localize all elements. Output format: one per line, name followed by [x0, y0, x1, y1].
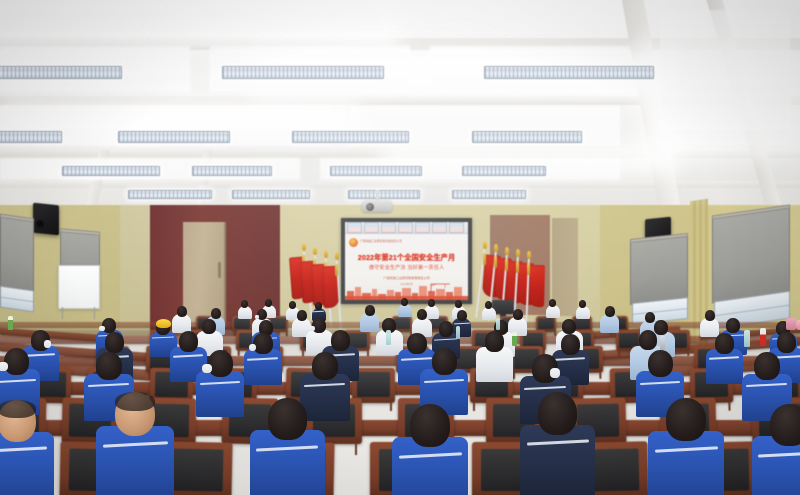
- projection-screen[interactable]: 广西机械工业研究院有限责任公司 2022年第21个全国安全生产月 遵守安全生产法…: [345, 222, 468, 300]
- person-head: [705, 310, 715, 321]
- person-torso: [600, 314, 619, 332]
- audience-member-front-near: [96, 392, 174, 494]
- audience-member-back-5: [398, 298, 412, 316]
- person-head: [253, 333, 273, 354]
- flag-finial-icon: [494, 244, 498, 252]
- window-blind-left-1[interactable]: [0, 216, 34, 293]
- projector-lens-icon: [366, 203, 374, 211]
- flag-tassel: [505, 259, 508, 271]
- flag-finial-icon: [505, 247, 509, 255]
- chair-leg: [285, 332, 287, 337]
- audience-member-r4-10: [706, 333, 743, 381]
- whiteboard-leg: [62, 307, 63, 319]
- person-torso: [238, 306, 252, 319]
- ceiling-fluorescent-fixture: [62, 166, 160, 176]
- person-head: [211, 308, 221, 319]
- ceiling-beam: [0, 181, 800, 188]
- person-torso: [398, 304, 412, 317]
- slide-title: 2022年第21个全国安全生产月: [345, 253, 468, 264]
- person-head: [549, 299, 556, 307]
- ceiling-fluorescent-fixture: [0, 131, 62, 143]
- ceiling-fluorescent-fixture: [348, 190, 420, 199]
- ceiling-light-panel: [660, 10, 790, 130]
- audience-member-r6-4: [392, 404, 468, 495]
- person-head: [770, 404, 800, 446]
- audience-member-r6-7: [752, 404, 800, 495]
- window-blind-right-1[interactable]: [630, 235, 688, 305]
- flag-tassel: [527, 263, 530, 275]
- person-torso: [244, 349, 282, 385]
- ceiling-fluorescent-fixture: [472, 131, 582, 143]
- water-bottle-4: [496, 318, 500, 330]
- face-mask: [550, 368, 560, 378]
- audience-member-r6-1: [0, 400, 54, 495]
- audience-member-r4-7: [476, 331, 513, 379]
- flag-tassel: [335, 264, 338, 276]
- face-mask: [255, 315, 259, 319]
- ceiling-fluorescent-fixture: [192, 166, 272, 176]
- audience-member-r6-6: [648, 398, 724, 495]
- company-logo-icon: [349, 238, 358, 247]
- person-head: [562, 319, 576, 334]
- person-head: [365, 305, 375, 316]
- chair-leg: [599, 372, 601, 380]
- chair-leg: [618, 350, 620, 356]
- ceiling-fluorescent-fixture: [232, 190, 310, 199]
- person-head: [331, 330, 350, 351]
- person-head: [648, 350, 673, 377]
- hard-hat: [156, 319, 171, 328]
- person-head: [102, 318, 116, 333]
- flag-finial-icon: [516, 249, 520, 257]
- person-head: [666, 398, 706, 441]
- audience-member-r6-3: [250, 398, 325, 495]
- person-head: [289, 301, 296, 309]
- water-bottle-1: [8, 316, 13, 330]
- person-hair: [115, 392, 156, 411]
- slide-thumbnail[interactable]: [364, 222, 379, 233]
- face-mask: [0, 362, 8, 371]
- slide-thumbnail[interactable]: [415, 222, 430, 233]
- slide-thumbnail[interactable]: [381, 222, 396, 233]
- face-mask: [44, 340, 51, 347]
- person-head: [726, 318, 740, 333]
- ceiling-fluorescent-fixture: [462, 166, 546, 176]
- person-torso: [96, 426, 174, 495]
- whiteboard-leg: [94, 307, 95, 319]
- audience-member-back-10: [576, 300, 590, 318]
- person-head: [432, 348, 457, 375]
- person-torso: [196, 371, 244, 417]
- person-head: [265, 299, 272, 307]
- audience-member-back-9: [546, 299, 560, 317]
- chair-leg: [687, 350, 689, 356]
- person-head: [268, 398, 307, 440]
- wall-speaker-left: [33, 203, 59, 236]
- person-head: [754, 352, 780, 380]
- water-bottle-3: [456, 326, 460, 339]
- slide-thumbnail[interactable]: [347, 222, 362, 233]
- pink-pouch: [786, 318, 796, 330]
- person-head: [4, 348, 29, 375]
- window-blind-right-2[interactable]: [712, 207, 790, 304]
- person-torso: [520, 425, 595, 495]
- face-mask: [202, 364, 211, 373]
- whiteboard-easel[interactable]: [58, 265, 100, 309]
- chair-backrest-pad: [168, 448, 224, 491]
- person-head: [561, 334, 580, 355]
- audience-member-aisle: [600, 306, 619, 331]
- ceiling-fluorescent-fixture: [452, 190, 526, 199]
- flag-cloth: [528, 265, 545, 307]
- chair-leg: [473, 402, 475, 412]
- chair-backrest-pad: [234, 318, 249, 330]
- flag-tassel: [494, 256, 497, 268]
- chair-leg: [355, 442, 357, 455]
- slide-thumbnail[interactable]: [449, 222, 464, 233]
- slide-logo-text: 广西机械工业研究院有限责任公司: [360, 239, 402, 243]
- person-head: [777, 332, 796, 353]
- ceiling-fluorescent-fixture: [292, 131, 409, 143]
- person-head: [605, 306, 615, 317]
- person-head: [538, 392, 577, 435]
- flag-finial-icon: [335, 252, 339, 260]
- audience-member-back-1: [238, 300, 252, 318]
- ceiling-fluorescent-fixture: [0, 66, 122, 79]
- person-head: [179, 331, 198, 352]
- ceiling-fluorescent-fixture: [118, 131, 230, 143]
- person-head: [177, 306, 187, 317]
- audience-member-r5-3: [196, 350, 244, 413]
- ceiling-glow: [0, 0, 400, 48]
- flag-finial-icon: [324, 250, 328, 258]
- audience-member-back-8: [482, 301, 496, 319]
- chair-leg: [367, 350, 369, 356]
- crane-icon: [430, 282, 452, 294]
- chair-backrest-pad: [538, 318, 553, 330]
- person-head: [241, 300, 248, 308]
- window-left-1: [0, 286, 34, 313]
- person-head: [485, 331, 504, 352]
- slide-organization: 广西机械工业研究院有限责任公司: [345, 275, 468, 280]
- water-bottle-5: [512, 332, 517, 346]
- ceiling-fluorescent-fixture: [222, 66, 384, 79]
- conference-room-photo: 广西机械工业研究院有限责任公司 2022年第21个全国安全生产月 遵守安全生产法…: [0, 0, 800, 495]
- face-mask: [99, 326, 104, 331]
- flag-tassel: [516, 261, 519, 273]
- person-head: [485, 301, 492, 309]
- person-torso: [250, 430, 325, 495]
- slide-thumbnail[interactable]: [398, 222, 413, 233]
- audience-member-r6-5: [520, 392, 595, 490]
- face-mask: [309, 326, 314, 331]
- audience-member-r5-5: [420, 348, 468, 411]
- person-head: [639, 330, 658, 350]
- chair-leg: [728, 401, 730, 411]
- person-torso: [0, 432, 54, 495]
- door-handle-icon[interactable]: [218, 262, 221, 278]
- person-head: [105, 332, 124, 353]
- water-bottle-2: [386, 330, 391, 345]
- ceiling-fluorescent-fixture: [330, 166, 422, 176]
- slide-thumbnail[interactable]: [432, 222, 447, 233]
- audience-member-r2-6: [412, 309, 432, 335]
- slide-subtitle: 遵守安全生产法 当好第一责任人: [345, 264, 468, 271]
- person-torso: [576, 306, 590, 319]
- person-hair: [0, 400, 36, 418]
- pink-bag: [796, 320, 800, 330]
- audience-member-r2-11: [700, 310, 719, 335]
- person-head: [513, 309, 523, 320]
- ceiling-fluorescent-fixture: [128, 190, 212, 199]
- person-torso: [476, 347, 513, 382]
- person-head: [579, 300, 586, 308]
- person-torso: [546, 305, 560, 318]
- chair-backrest-pad: [357, 372, 390, 397]
- person-head: [410, 404, 450, 447]
- water-bottle-6: [744, 330, 750, 347]
- flag-finial-icon: [302, 243, 306, 251]
- person-head: [455, 300, 462, 308]
- flag-tassel: [483, 253, 486, 265]
- person-head: [715, 333, 734, 354]
- ceiling: [0, 0, 800, 205]
- person-head: [428, 299, 436, 307]
- person-head: [208, 350, 233, 377]
- powerpoint-thumbnail-strip[interactable]: [345, 222, 468, 234]
- person-head: [457, 310, 467, 321]
- person-head: [401, 298, 408, 306]
- face-mask: [249, 344, 256, 351]
- water-bottle-7: [760, 328, 766, 346]
- person-head: [312, 352, 338, 380]
- audience-member-r4-4: [244, 333, 282, 382]
- person-head: [439, 321, 453, 337]
- person-torso: [706, 349, 743, 384]
- person-head: [315, 302, 322, 310]
- flag-finial-icon: [483, 241, 487, 249]
- person-torso: [482, 307, 496, 320]
- flag-finial-icon: [527, 251, 531, 259]
- water-bottle-8: [660, 336, 665, 350]
- person-head: [96, 352, 122, 380]
- ceiling-fluorescent-fixture: [484, 66, 654, 79]
- flag-finial-icon: [313, 247, 317, 255]
